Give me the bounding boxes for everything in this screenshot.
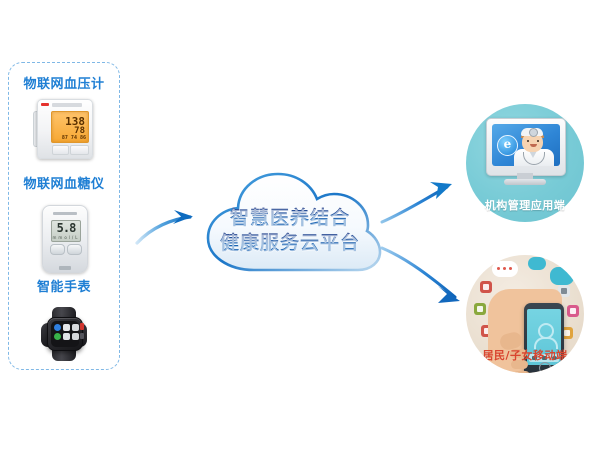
bgm-display: 5.8 mmol/L [51, 220, 81, 242]
bgm-body: 5.8 mmol/L [42, 205, 88, 273]
bpm-display: 138 78 87 74 86 [51, 111, 89, 143]
bpm-body: 138 78 87 74 86 [37, 99, 93, 159]
iot-device-group: 物联网血压计 138 78 87 74 86 物联网血糖仪 5.8 [8, 62, 120, 370]
monitor-stand-base [504, 179, 546, 185]
bgm-reading-unit: mmol/L [52, 235, 80, 240]
monitor-frame: e [486, 118, 566, 176]
bgm-reading-value: 5.8 [52, 222, 80, 234]
app-icon-idea [474, 303, 486, 315]
desktop-doctor-icon: e [486, 118, 564, 184]
blood-pressure-monitor-icon: 138 78 87 74 86 [33, 99, 95, 163]
watch-side-button [80, 333, 84, 339]
arrow-cloud-to-mobile [382, 248, 460, 303]
resident-family-mobile-terminal[interactable]: 居民/子女移动端 [466, 255, 584, 373]
watch-case [47, 317, 83, 351]
phone-home-button [539, 362, 551, 373]
watch-app-icon-2 [63, 324, 70, 331]
comment-bubble-icon [528, 257, 546, 270]
device-label-glucose: 物联网血糖仪 [9, 173, 119, 192]
bgm-brand-strip [53, 212, 77, 215]
institution-label: 机构管理应用端 [466, 197, 584, 213]
monitor-screen: e [492, 124, 560, 166]
institution-management-terminal[interactable]: e 机构管理应用端 [466, 104, 584, 222]
watch-app-icon-5 [63, 333, 70, 340]
bpm-brand-strip [52, 103, 82, 107]
doctor-avatar [514, 128, 558, 166]
watch-app-icon-4 [54, 333, 61, 340]
watch-app-icon-1 [54, 324, 61, 331]
watch-app-icon-6 [72, 333, 79, 340]
doctor-eye-left [527, 140, 529, 142]
app-icon-music [567, 305, 579, 317]
bgm-test-strip-port [59, 266, 71, 270]
bpm-pulse-value: 87 74 86 [62, 136, 86, 141]
mobile-label: 居民/子女移动端 [466, 347, 584, 363]
watch-app-icon-3 [72, 324, 79, 331]
cloud-shape [192, 168, 388, 284]
glucose-meter-icon: 5.8 mmol/L [42, 205, 86, 273]
device-label-blood-pressure: 物联网血压计 [9, 73, 119, 92]
bpm-button-left [52, 145, 69, 155]
bgm-button-left [50, 244, 65, 255]
doctor-eye-right [537, 140, 539, 142]
arrow-devices-to-cloud [137, 210, 193, 243]
app-icon-heart [480, 281, 492, 293]
watch-crown-button [80, 323, 84, 330]
smart-watch-icon [35, 307, 93, 361]
diagram-canvas: 物联网血压计 138 78 87 74 86 物联网血糖仪 5.8 [0, 0, 600, 450]
megaphone-bubble-icon [550, 267, 574, 285]
cloud-platform: 智慧医养结合 健康服务云平台 [192, 168, 388, 284]
arrow-cloud-to-institution [382, 182, 452, 222]
hand-finger-3 [513, 371, 530, 373]
device-label-smart-watch: 智能手表 [9, 276, 119, 295]
watch-face [51, 321, 79, 347]
head-mirror-icon [529, 128, 538, 137]
bpm-button-right [70, 145, 89, 155]
message-bubble-icon [492, 261, 518, 277]
bpm-indicator [41, 103, 49, 106]
bgm-button-right [67, 244, 82, 255]
